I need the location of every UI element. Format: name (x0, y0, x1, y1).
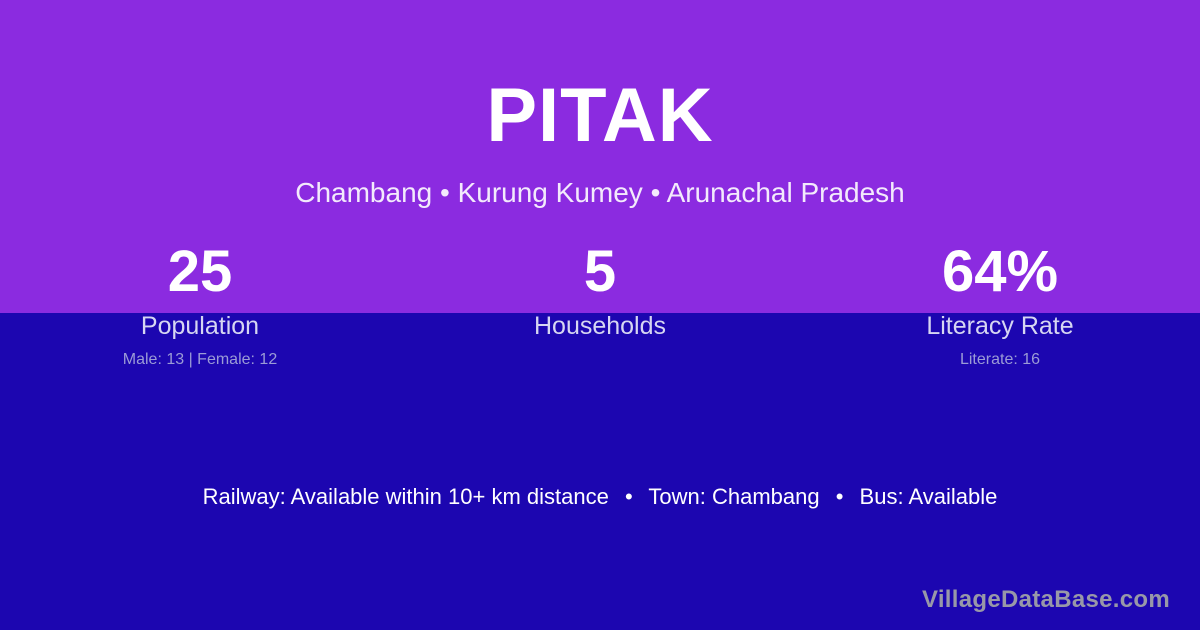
stat-population: 25 Population Male: 13 | Female: 12 (0, 243, 400, 369)
fact-bus: Bus: Available (860, 484, 998, 509)
bullet-separator-icon: • (826, 484, 854, 509)
stat-literacy-rate-value: 64% (800, 243, 1200, 305)
stat-households: 5 Households (400, 243, 800, 369)
stat-households-value: 5 (400, 243, 800, 305)
card-header: PITAK Chambang • Kurung Kumey • Arunacha… (0, 0, 1200, 209)
page-title: PITAK (0, 78, 1200, 154)
stat-literacy-rate-label: Literacy Rate (800, 313, 1200, 341)
fact-nearest-town: Town: Chambang (648, 484, 819, 509)
location-breadcrumb: Chambang • Kurung Kumey • Arunachal Prad… (0, 178, 1200, 209)
stat-literacy-rate: 64% Literacy Rate Literate: 16 (800, 243, 1200, 369)
stat-population-value: 25 (0, 243, 400, 305)
stat-population-breakdown: Male: 13 | Female: 12 (0, 351, 400, 369)
stat-households-label: Households (400, 313, 800, 341)
amenities-summary: Railway: Available within 10+ km distanc… (0, 484, 1200, 510)
stat-literacy-rate-breakdown: Literate: 16 (800, 351, 1200, 369)
site-branding: VillageDataBase.com (922, 586, 1170, 614)
stat-population-label: Population (0, 313, 400, 341)
statistics-row: 25 Population Male: 13 | Female: 12 5 Ho… (0, 243, 1200, 369)
village-info-card: PITAK Chambang • Kurung Kumey • Arunacha… (0, 0, 1200, 630)
bullet-separator-icon: • (615, 484, 643, 509)
fact-railway: Railway: Available within 10+ km distanc… (203, 484, 609, 509)
stat-households-breakdown (400, 351, 800, 369)
